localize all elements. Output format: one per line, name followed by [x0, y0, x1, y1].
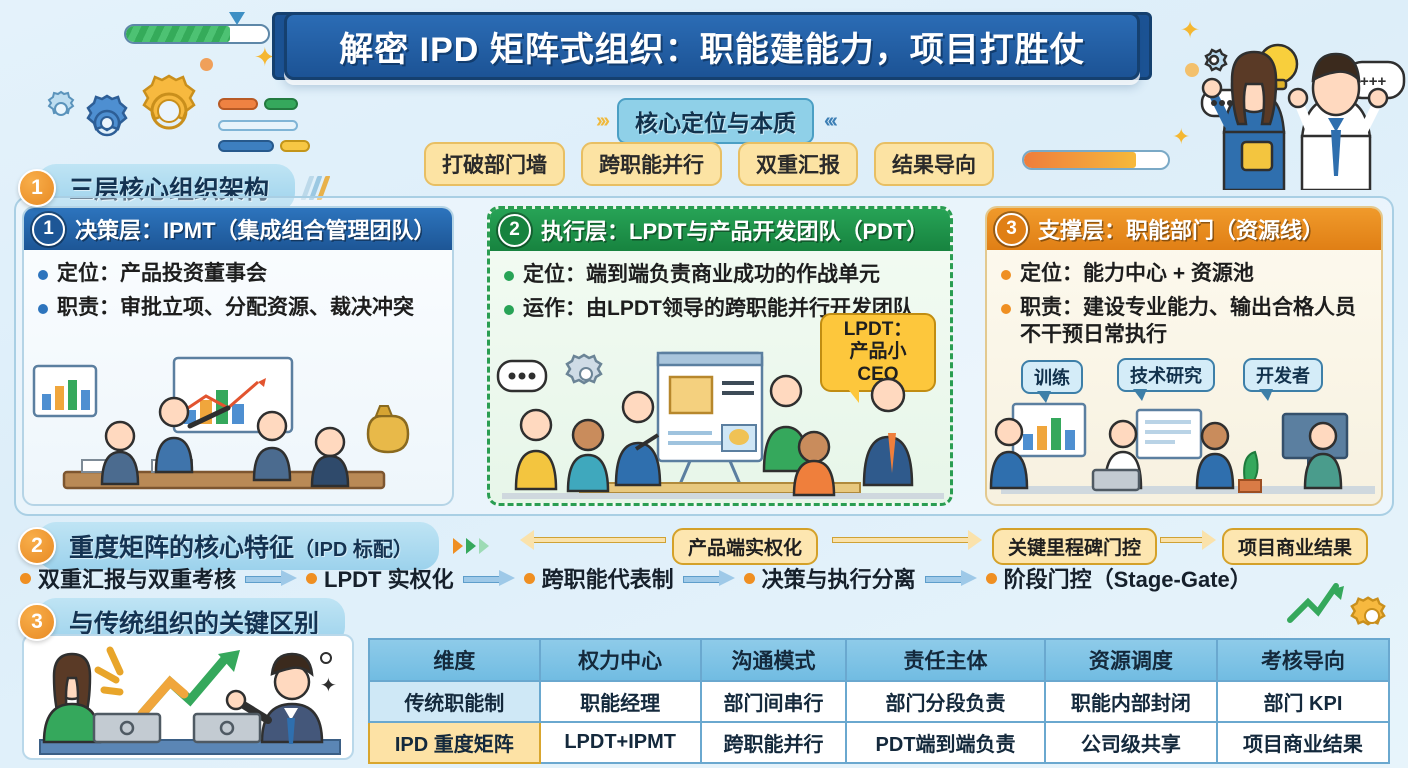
dot-decor: [200, 58, 213, 71]
table-header-cell: 权力中心: [540, 639, 701, 681]
pill-orange-decor: [218, 98, 258, 110]
flow-chip-milestone-gate[interactable]: 关键里程碑门控: [992, 528, 1157, 565]
table-cell: 项目商业结果: [1217, 722, 1389, 763]
layer-number: 3: [995, 213, 1028, 246]
flow-label: 双重汇报与双重考核: [38, 562, 236, 594]
gold-arrow-left: [520, 533, 666, 547]
pill-light-decor: [218, 120, 298, 131]
table-cell: IPD 重度矩阵: [369, 722, 540, 763]
svg-text:✦: ✦: [1172, 124, 1190, 149]
table-header-cell: 维度: [369, 639, 540, 681]
flow-arrow-icon: [683, 572, 735, 584]
bullet-text: 定位：能力中心 + 资源池: [1020, 260, 1254, 288]
table-cell: 跨职能并行: [701, 722, 847, 763]
layer-card-support[interactable]: 3 支撑层：职能部门（资源线） 定位：能力中心 + 资源池 职责：建设专业能力、…: [985, 206, 1383, 506]
flow-chip-business-result[interactable]: 项目商业结果: [1222, 528, 1368, 565]
table-cell: 公司级共享: [1045, 722, 1217, 763]
flow-dot: [986, 573, 997, 584]
flow-label: 跨职能代表制: [542, 562, 674, 594]
table-header-row: 维度 权力中心 沟通模式 责任主体 资源调度 考核导向: [369, 639, 1389, 681]
flow-label: LPDT 实权化: [324, 562, 454, 594]
bullet-item: 定位：能力中心 + 资源池: [1001, 260, 1369, 288]
flow-dot: [20, 573, 31, 584]
layer-card-header: 2 执行层：LPDT与产品开发团队（PDT）: [490, 209, 950, 251]
decor-top-left: ✦: [0, 0, 290, 160]
core-tag[interactable]: 跨职能并行: [581, 142, 722, 186]
section-number: 1: [18, 169, 56, 207]
table-cell: 部门 KPI: [1217, 681, 1389, 722]
triangle-decor: [453, 538, 489, 554]
core-positioning-header: ››› 核心定位与本质 ‹‹‹: [596, 98, 835, 144]
bullet-text: 定位：端到端负责商业成功的作战单元: [523, 261, 880, 289]
layer-title: 决策层：IPMT（集成组合管理团队）: [75, 213, 436, 245]
flow-dot: [524, 573, 535, 584]
flow-dot: [306, 573, 317, 584]
layer-number: 1: [32, 213, 65, 246]
core-tag[interactable]: 打破部门墙: [424, 142, 565, 186]
table-cell: PDT端到端负责: [846, 722, 1045, 763]
flow-arrow-icon: [245, 572, 297, 584]
table-cell: 传统职能制: [369, 681, 540, 722]
svg-text:✦: ✦: [320, 675, 337, 697]
layer-card-header: 3 支撑层：职能部门（资源线）: [987, 208, 1381, 250]
core-positioning-label: 核心定位与本质: [617, 98, 814, 144]
flow-dot: [744, 573, 755, 584]
comparison-table: 维度 权力中心 沟通模式 责任主体 资源调度 考核导向 传统职能制 职能经理 部…: [368, 638, 1390, 764]
decor-bottom-right: [1286, 576, 1396, 636]
bullet-dot: [504, 305, 514, 315]
layer-title: 支撑层：职能部门（资源线）: [1038, 213, 1324, 245]
section-title-suffix: （IPD 标配）: [294, 539, 413, 561]
layer-card-header: 1 决策层：IPMT（集成组合管理团队）: [24, 208, 452, 250]
bullet-item: 职责：建设专业能力、输出合格人员 不干预日常执行: [1001, 294, 1369, 349]
chevron-right-decor: ›››: [596, 110, 607, 133]
page-title-bar: 解密 IPD 矩阵式组织：职能建能力，项目打胜仗: [284, 12, 1140, 80]
title-banner: 解密 IPD 矩阵式组织：职能建能力，项目打胜仗: [284, 12, 1140, 80]
layer-title: 执行层：LPDT与产品开发团队（PDT）: [541, 214, 928, 246]
layer-card-body: 定位：端到端负责商业成功的作战单元 运作：由LPDT领导的跨职能并行开发团队: [490, 251, 950, 322]
gear-large-icon: [130, 72, 208, 150]
bullet-item: 职责：审批立项、分配资源、裁决冲突: [38, 294, 440, 322]
pin-marker-icon: [229, 12, 245, 25]
flow-item[interactable]: 决策与执行分离: [744, 562, 916, 594]
progress-bar-decor: [124, 24, 270, 44]
gold-arrow-right: [1160, 533, 1216, 547]
flow-label: 阶段门控（Stage-Gate）: [1004, 562, 1252, 594]
infographic-canvas: ✦ 解密 IPD 矩阵式组织：职能建能力，项目打胜仗 ››› 核心定: [0, 0, 1408, 768]
bullet-item: 定位：产品投资董事会: [38, 260, 440, 288]
core-tag-row: 打破部门墙 跨职能并行 双重汇报 结果导向: [424, 142, 994, 186]
table-cell: 职能内部封闭: [1045, 681, 1217, 722]
flow-arrow-icon: [463, 572, 515, 584]
bullet-item: 定位：端到端负责商业成功的作战单元: [504, 261, 938, 289]
flow-item[interactable]: 阶段门控（Stage-Gate）: [986, 562, 1252, 594]
bullet-text-line2: 不干预日常执行: [1020, 323, 1167, 346]
table-cell: 部门分段负责: [846, 681, 1045, 722]
bullet-dot: [38, 304, 48, 314]
illustration-boardroom: [24, 354, 452, 504]
illustration-team-meeting: [490, 343, 950, 503]
illustration-two-presenters: +++ ✦ ✦: [1168, 14, 1408, 190]
bullet-text: 定位：产品投资董事会: [57, 260, 267, 288]
table-row: IPD 重度矩阵 LPDT+IPMT 跨职能并行 PDT端到端负责 公司级共享 …: [369, 722, 1389, 763]
illustration-support-teams: [987, 386, 1381, 504]
chevron-left-decor: ‹‹‹: [824, 110, 835, 133]
layer-card-body: 定位：产品投资董事会 职责：审批立项、分配资源、裁决冲突: [24, 250, 452, 321]
illustration-two-analysts: ✦: [22, 634, 354, 760]
section-number: 2: [18, 527, 56, 565]
table-row: 传统职能制 职能经理 部门间串行 部门分段负责 职能内部封闭 部门 KPI: [369, 681, 1389, 722]
flow-label: 决策与执行分离: [762, 562, 916, 594]
bullet-dot: [38, 270, 48, 280]
flow-chip-product-authority[interactable]: 产品端实权化: [672, 528, 818, 565]
layer-card-execution[interactable]: 2 执行层：LPDT与产品开发团队（PDT） 定位：端到端负责商业成功的作战单元…: [487, 206, 953, 506]
flow-item[interactable]: 双重汇报与双重考核: [20, 562, 236, 594]
bullet-text-line1: 职责：建设专业能力、输出合格人员: [1020, 296, 1356, 319]
table-header-cell: 资源调度: [1045, 639, 1217, 681]
svg-text:+++: +++: [1360, 73, 1387, 90]
page-title: 解密 IPD 矩阵式组织：职能建能力，项目打胜仗: [339, 22, 1085, 71]
layer-card-body: 定位：能力中心 + 资源池 职责：建设专业能力、输出合格人员 不干预日常执行: [987, 250, 1381, 349]
svg-text:✦: ✦: [1180, 17, 1200, 44]
layer-number: 2: [498, 214, 531, 247]
progress-bar-decor-right: [1022, 150, 1170, 170]
core-tag[interactable]: 双重汇报: [738, 142, 858, 186]
table-header-cell: 沟通模式: [701, 639, 847, 681]
pill-blue-decor: [218, 140, 274, 152]
bullet-text: 职责：审批立项、分配资源、裁决冲突: [57, 294, 414, 322]
gear-small-icon: [40, 88, 82, 130]
pill-yellow-decor: [280, 140, 310, 152]
bullet-dot: [1001, 270, 1011, 280]
table-header-cell: 责任主体: [846, 639, 1045, 681]
table-cell: 职能经理: [540, 681, 701, 722]
feature-flow-row: 双重汇报与双重考核 LPDT 实权化 跨职能代表制 决策与执行分离 阶段门控（S…: [20, 562, 1252, 594]
layer-card-decision[interactable]: 1 决策层：IPMT（集成组合管理团队） 定位：产品投资董事会 职责：审批立项、…: [22, 206, 454, 506]
section-title-main: 重度矩阵的核心特征: [69, 534, 294, 562]
flow-item[interactable]: LPDT 实权化: [306, 562, 454, 594]
bullet-dot: [504, 271, 514, 281]
pill-green-decor: [264, 98, 298, 110]
core-tag[interactable]: 结果导向: [874, 142, 994, 186]
table-header-cell: 考核导向: [1217, 639, 1389, 681]
flow-item[interactable]: 跨职能代表制: [524, 562, 674, 594]
lpdt-callout-line1: LPDT：: [834, 319, 922, 341]
bullet-text: 职责：建设专业能力、输出合格人员 不干预日常执行: [1020, 294, 1356, 349]
flow-arrow-icon: [925, 572, 977, 584]
table-cell: 部门间串行: [701, 681, 847, 722]
gear-medium-icon: [76, 92, 138, 154]
gold-arrow-mid: [832, 533, 982, 547]
table-cell: LPDT+IPMT: [540, 722, 701, 763]
bullet-dot: [1001, 304, 1011, 314]
section-number: 3: [18, 603, 56, 641]
